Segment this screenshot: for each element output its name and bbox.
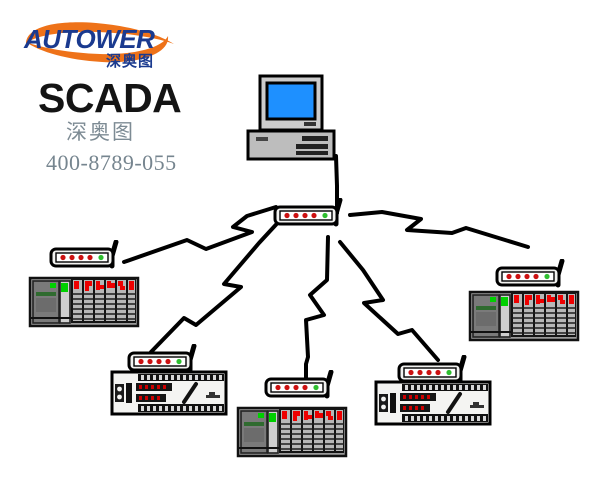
node-router-center[interactable] [272, 198, 346, 220]
link-center-to-left [124, 207, 276, 262]
node-plc-bottom[interactable] [236, 404, 340, 456]
plc-rack-icon [28, 274, 140, 330]
node-rtu-right[interactable] [374, 380, 486, 422]
link-center-to-right [350, 212, 528, 247]
node-plc-right[interactable] [468, 288, 572, 340]
link-center-to-br [340, 242, 438, 360]
plc-rack-icon [236, 404, 348, 460]
compact-controller-icon [374, 380, 492, 426]
compact-controller-icon [110, 370, 228, 416]
node-router-br[interactable] [396, 355, 470, 377]
node-router-right[interactable] [494, 259, 568, 281]
wireless-router-icon [263, 370, 343, 406]
desktop-computer-icon [246, 74, 342, 166]
node-rtu-left[interactable] [110, 370, 222, 412]
node-plc-left[interactable] [28, 274, 132, 326]
wireless-router-icon [272, 198, 352, 234]
diagram-canvas: AUTOWER 深奥图 SCADA 深奥图 400-8789-055 [0, 0, 600, 480]
wireless-router-icon [48, 240, 128, 276]
node-host-pc[interactable] [246, 74, 342, 166]
plc-rack-icon [468, 288, 580, 344]
node-router-left[interactable] [48, 240, 122, 262]
node-router-bl[interactable] [126, 344, 200, 366]
node-router-bc[interactable] [263, 370, 337, 392]
link-center-to-bc [306, 237, 328, 390]
link-center-to-bl [151, 216, 284, 352]
